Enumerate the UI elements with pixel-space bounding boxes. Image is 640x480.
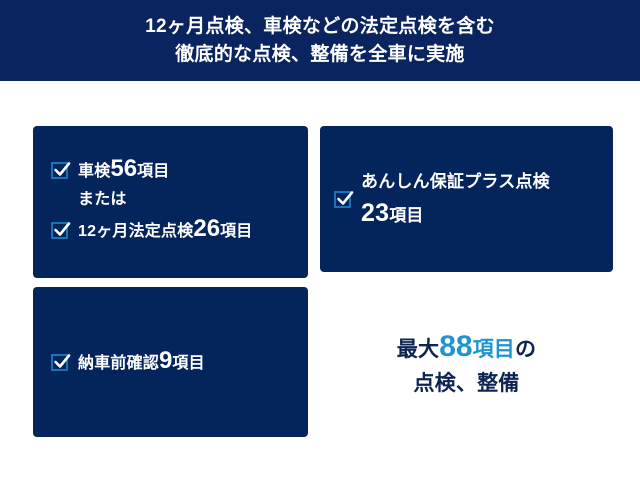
inspection-row-suffix: 項目 <box>137 163 169 180</box>
predelivery-number: 9 <box>159 347 172 374</box>
predelivery-row-list: 納車前確認9項目 <box>51 287 205 437</box>
warranty-unit: 項目 <box>389 206 423 225</box>
card-predelivery: 納車前確認9項目 <box>33 287 308 437</box>
summary-unit: 項目 <box>473 338 515 361</box>
predelivery-row-text: 納車前確認9項目 <box>78 351 205 374</box>
warranty-line-1: あんしん保証プラス点検 <box>361 167 550 197</box>
checkbox-checked-icon <box>51 354 68 371</box>
warranty-number: 23 <box>361 199 389 227</box>
header-line-2: 徹底的な点検、整備を全車に実施 <box>175 41 465 69</box>
predelivery-suffix: 項目 <box>172 355 204 372</box>
inspection-row-suffix: 項目 <box>220 223 252 240</box>
inspection-row-text: 12ヶ月法定点検26項目 <box>78 219 253 242</box>
summary-line-1: 最大88項目の <box>320 330 613 367</box>
warranty-text-block: あんしん保証プラス点検 23項目 <box>361 167 550 232</box>
checkbox-checked-icon <box>51 222 68 239</box>
header-line-1: 12ヶ月点検、車検などの法定点検を含む <box>145 13 495 41</box>
summary-particle: の <box>515 338 536 361</box>
inspection-row-prefix: 車検 <box>78 163 110 180</box>
warranty-line-2: 23項目 <box>361 197 550 232</box>
inspection-row-number: 26 <box>193 215 220 242</box>
summary-total-number: 88 <box>439 330 472 363</box>
summary-line-2: 点検、整備 <box>320 367 613 401</box>
summary-block: 最大88項目の 点検、整備 <box>320 330 613 401</box>
checkbox-checked-icon <box>51 162 68 179</box>
inspection-row-text: 車検56項目 <box>78 159 170 182</box>
summary-prefix: 最大 <box>397 338 439 361</box>
inspection-row-prefix: 12ヶ月法定点検 <box>78 223 193 240</box>
warranty-content: あんしん保証プラス点検 23項目 <box>334 126 550 272</box>
card-inspection: 車検56項目 または 12ヶ月法定点検26項目 <box>33 126 308 278</box>
predelivery-prefix: 納車前確認 <box>78 355 159 372</box>
checkbox-checked-icon <box>334 191 351 208</box>
card-warranty: あんしん保証プラス点検 23項目 <box>320 126 613 272</box>
inspection-row: 車検56項目 <box>51 155 253 185</box>
inspection-row-alternative: または <box>51 185 253 215</box>
inspection-row-number: 56 <box>110 155 137 182</box>
inspection-row-alternative-text: または <box>78 190 127 210</box>
inspection-row: 12ヶ月法定点検26項目 <box>51 215 253 245</box>
inspection-row-list: 車検56項目 または 12ヶ月法定点検26項目 <box>51 155 253 245</box>
predelivery-row: 納車前確認9項目 <box>51 347 205 377</box>
header-banner: 12ヶ月点検、車検などの法定点検を含む 徹底的な点検、整備を全車に実施 <box>0 0 640 81</box>
